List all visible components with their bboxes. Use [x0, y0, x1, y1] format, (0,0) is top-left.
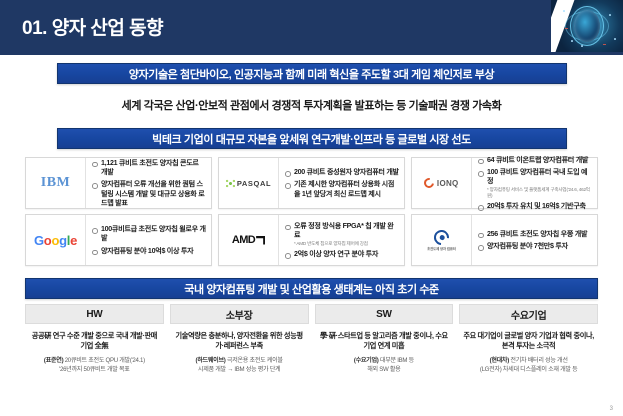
card-bullet: 양자컴퓨팅 분야 10억$ 이상 투자	[92, 247, 206, 256]
ionq-logo: IONQ	[412, 158, 472, 208]
column-sub-line2: '26년까지 50큐비트 개발 목표	[28, 366, 161, 375]
card-bullet: 오류 정정 방식용 FPGA* 칩 개발 완료 * AMD 반도체 칩으로 양자…	[285, 222, 399, 247]
company-card: AMD 오류 정정 방식용 FPGA* 칩 개발 완료 * AMD 반도체 칩으…	[218, 214, 405, 266]
card-bullet: 1,121 큐비트 초전도 양자칩 콘도르 개발	[92, 159, 206, 178]
card-bullet: 100 큐비트 양자컴퓨터 국내 도입 예정 * 양자컴퓨팅 서비스 및 플랫폼…	[478, 168, 592, 199]
card-body: 200 큐비트 중성원자 양자컴퓨터 개발 기존 제시한 양자컴퓨터 상용화 시…	[279, 158, 404, 208]
quantum-orb-icon	[551, 0, 623, 52]
column-sub-line2: 시제품 개발 → IBM 성능 평가 단계	[173, 366, 306, 375]
column-sub-label: (현대차)	[490, 357, 509, 364]
column-body-hw: 공공硏 연구 수준 개발 중으로 국내 개발·판매 기업 全無 (표준연) 20…	[25, 328, 164, 375]
column-main-text: 기술역량은 충분하나, 양자전환을 위한 성능평가·레퍼런스 부족	[173, 331, 306, 352]
column-header-row: HW 소부장 SW 수요기업	[25, 304, 598, 324]
amd-logo-text: AMD	[232, 234, 255, 246]
company-card: Google 100큐비트급 초전도 양자칩 윌로우 개발 양자컴퓨팅 분야 1…	[25, 214, 212, 266]
column-sub-line2: 해외 SW 활용	[318, 366, 451, 375]
column-sub-text: (하드웨이브) 극저온용 초전도 케이블 시제품 개발 → IBM 성능 평가 …	[173, 357, 306, 375]
column-sub-text: (현대차) 전기차 배터리 성능 개선 (LG전자) 차세대 디스플레이 소재 …	[462, 357, 595, 375]
card-bullet: 256 큐비트 초전도 양자칩 우쭝 개발	[478, 230, 592, 239]
column-sub-label: (하드웨이브)	[195, 357, 225, 364]
company-cards-grid: IBM 1,121 큐비트 초전도 양자칩 콘도르 개발 양자컴퓨터 오류 개선…	[25, 157, 598, 266]
banner-headline-2: 빅테크 기업이 대규모 자본을 앞세워 연구개발·인프라 등 글로벌 시장 선도	[57, 128, 567, 149]
card-bullet: 2억$ 이상 양자 연구 분야 투자	[285, 250, 399, 259]
slide: 01. 양자 산업 동향 양자기술은 첨단바이오, 인공지능과 함께 미래 혁신…	[0, 0, 623, 416]
company-card: IBM 1,121 큐비트 초전도 양자칩 콘도르 개발 양자컴퓨터 오류 개선…	[25, 157, 212, 209]
column-main-text: 공공硏 연구 수준 개발 중으로 국내 개발·판매 기업 全無	[28, 331, 161, 352]
amd-logo: AMD	[219, 215, 279, 265]
subheadline-1: 세계 각국은 산업·안보적 관점에서 경쟁적 투자계획을 발표하는 등 기술패권…	[0, 97, 623, 113]
pasqal-logo-text: PASQAL	[237, 179, 271, 188]
page-number: 3	[610, 406, 613, 412]
card-bullet: 기존 제시한 양자컴퓨터 상용화 시점을 1년 앞당겨 최신 로드맵 제시	[285, 180, 399, 199]
company-card: PASQAL 200 큐비트 중성원자 양자컴퓨터 개발 기존 제시한 양자컴퓨…	[218, 157, 405, 209]
column-sub-line2: (LG전자) 차세대 디스플레이 소재 개발 등	[462, 366, 595, 375]
card-bullet: 100큐비트급 초전도 양자칩 윌로우 개발	[92, 225, 206, 244]
card-bullet-note: * 양자컴퓨팅 서비스 및 플랫폼세계 구축사업('24.6, 462억원)	[487, 187, 592, 199]
quantum-org-logo: 초전도체 양자 컴퓨터	[412, 215, 472, 265]
card-bullet: 양자컴퓨팅 분야 7천만$ 투자	[478, 242, 592, 251]
column-sub-line1: 20큐비트 초전도 QPU 개발('24.1)	[65, 357, 145, 364]
quantum-org-logo-text: 초전도체 양자 컴퓨터	[427, 246, 456, 251]
ionq-mark-icon	[422, 176, 436, 190]
company-card: IONQ 64 큐비트 이온트랩 양자컴퓨터 개발 100 큐비트 양자컴퓨터 …	[411, 157, 598, 209]
amd-arrow-icon	[256, 236, 265, 245]
column-header-hw: HW	[25, 304, 164, 324]
card-bullet: 20억$ 투자 유치 및 16억$ 기반구축	[478, 202, 592, 211]
column-sub-text: (수요기업) 대부분 IBM 등 해외 SW 활용	[318, 357, 451, 375]
banner-headline-3-text: 국내 양자컴퓨팅 개발 및 산업활용 생태계는 아직 초기 수준	[184, 281, 439, 297]
google-logo-text: Google	[34, 233, 77, 248]
column-sub-label: (표준연)	[44, 357, 63, 364]
column-main-text: 주요 대기업이 글로벌 양자 기업과 협력 중이나, 본격 투자는 소극적	[462, 331, 595, 352]
column-sub-line1: 대부분 IBM 등	[380, 357, 414, 364]
banner-headline-1: 양자기술은 첨단바이오, 인공지능과 함께 미래 혁신을 주도할 3대 게임 체…	[57, 63, 567, 84]
ibm-logo: IBM	[26, 158, 86, 208]
company-card: 초전도체 양자 컴퓨터 256 큐비트 초전도 양자칩 우쭝 개발 양자컴퓨팅 …	[411, 214, 598, 266]
pasqal-logo: PASQAL	[219, 158, 279, 208]
card-bullet: 200 큐비트 중성원자 양자컴퓨터 개발	[285, 168, 399, 177]
column-body-sobujang: 기술역량은 충분하나, 양자전환을 위한 성능평가·레퍼런스 부족 (하드웨이브…	[170, 328, 309, 375]
card-bullet: 64 큐비트 이온트랩 양자컴퓨터 개발	[478, 156, 592, 165]
card-bullet-note: * AMD 반도체 칩으로 양자칩 제어에 강점	[294, 241, 399, 247]
column-sub-line1: 극저온용 초전도 케이블	[227, 357, 283, 364]
card-body: 256 큐비트 초전도 양자칩 우쭝 개발 양자컴퓨팅 분야 7천만$ 투자	[472, 215, 597, 265]
page-title: 01. 양자 산업 동향	[22, 13, 163, 40]
column-body-demand: 주요 대기업이 글로벌 양자 기업과 협력 중이나, 본격 투자는 소극적 (현…	[459, 328, 598, 375]
ionq-logo-text: IONQ	[437, 179, 459, 188]
banner-headline-1-text: 양자기술은 첨단바이오, 인공지능과 함께 미래 혁신을 주도할 3대 게임 체…	[129, 66, 494, 82]
column-body-row: 공공硏 연구 수준 개발 중으로 국내 개발·판매 기업 全無 (표준연) 20…	[25, 328, 598, 375]
card-bullet-text: 100 큐비트 양자컴퓨터 국내 도입 예정	[487, 168, 587, 185]
column-header-sobujang: 소부장	[170, 304, 309, 324]
slide-header: 01. 양자 산업 동향	[0, 0, 623, 52]
card-bullet: 양자컴퓨터 오류 개선을 위한 퀀텀 스털링 시스템 개발 및 대규모 상용화 …	[92, 180, 206, 208]
column-body-sw: 學·硏·스타트업 등 알고리즘 개발 중이나, 수요기업 연계 미흡 (수요기업…	[315, 328, 454, 375]
column-sub-text: (표준연) 20큐비트 초전도 QPU 개발('24.1) '26년까지 50큐…	[28, 357, 161, 375]
column-header-demand: 수요기업	[459, 304, 598, 324]
column-sub-label: (수요기업)	[354, 357, 379, 364]
pasqal-mark-icon	[226, 179, 235, 188]
banner-headline-2-text: 빅테크 기업이 대규모 자본을 앞세워 연구개발·인프라 등 글로벌 시장 선도	[152, 131, 471, 147]
card-body: 오류 정정 방식용 FPGA* 칩 개발 완료 * AMD 반도체 칩으로 양자…	[279, 215, 404, 265]
column-main-text: 學·硏·스타트업 등 알고리즘 개발 중이나, 수요기업 연계 미흡	[318, 331, 451, 352]
domestic-ecosystem-table: HW 소부장 SW 수요기업 공공硏 연구 수준 개발 중으로 국내 개발·판매…	[25, 304, 598, 375]
column-sub-line1: 전기차 배터리 성능 개선	[510, 357, 567, 364]
header-divider	[0, 52, 623, 55]
card-body: 100큐비트급 초전도 양자칩 윌로우 개발 양자컴퓨팅 분야 10억$ 이상 …	[86, 215, 211, 265]
card-bullet-text: 오류 정정 방식용 FPGA* 칩 개발 완료	[294, 222, 393, 239]
ibm-logo-text: IBM	[41, 175, 71, 191]
card-body: 1,121 큐비트 초전도 양자칩 콘도르 개발 양자컴퓨터 오류 개선을 위한…	[86, 158, 211, 208]
quantum-org-mark-icon	[431, 226, 452, 247]
column-header-sw: SW	[315, 304, 454, 324]
banner-headline-3: 국내 양자컴퓨팅 개발 및 산업활용 생태계는 아직 초기 수준	[25, 278, 598, 299]
google-logo: Google	[26, 215, 86, 265]
card-body: 64 큐비트 이온트랩 양자컴퓨터 개발 100 큐비트 양자컴퓨터 국내 도입…	[472, 158, 597, 208]
